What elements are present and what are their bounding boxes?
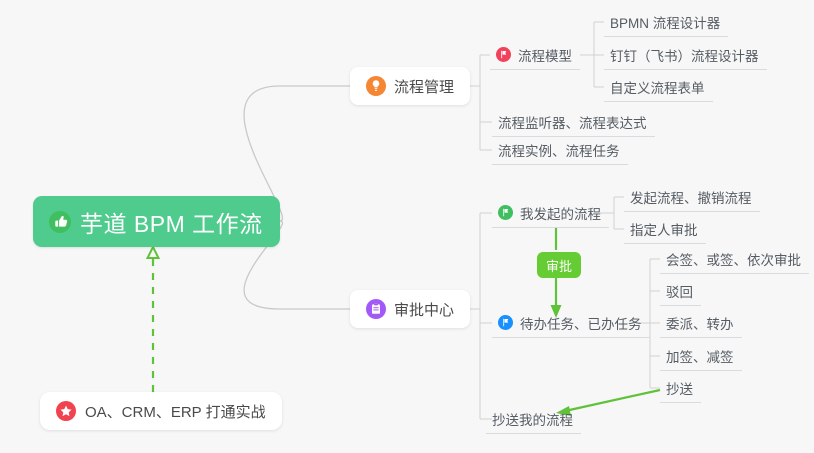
dashed-arrow-to-root [148, 247, 159, 392]
node-label: 钉钉（飞书）流程设计器 [610, 45, 759, 65]
node-cc-to-me[interactable]: 抄送我的流程 [486, 404, 581, 434]
node-label: 委派、转办 [666, 313, 734, 333]
node-delegate-transfer[interactable]: 委派、转办 [660, 308, 742, 338]
node-label: 会签、或签、依次审批 [666, 249, 801, 269]
approval-tag[interactable]: 审批 [537, 252, 581, 278]
lightbulb-icon [366, 76, 386, 96]
node-countersign[interactable]: 会签、或签、依次审批 [660, 244, 809, 274]
node-label: 流程实例、流程任务 [498, 140, 620, 160]
node-label: 抄送 [666, 378, 693, 398]
node-start-cancel-process[interactable]: 发起流程、撤销流程 [624, 182, 760, 212]
node-bpmn-designer[interactable]: BPMN 流程设计器 [604, 7, 728, 37]
clipboard-icon [366, 299, 386, 319]
root-node[interactable]: 芋道 BPM 工作流 [33, 196, 280, 247]
node-label: 指定人审批 [630, 219, 698, 239]
node-label: BPMN 流程设计器 [610, 12, 720, 32]
thumbs-up-icon [49, 211, 71, 233]
node-custom-process-form[interactable]: 自定义流程表单 [604, 72, 713, 102]
node-cc[interactable]: 抄送 [660, 373, 701, 403]
mindmap-canvas: 芋道 BPM 工作流 流程管理 流程模型 BPMN 流程设计器 钉钉（飞书）流程 [0, 0, 814, 453]
root-label: 芋道 BPM 工作流 [80, 205, 263, 239]
branch-label: 审批中心 [394, 299, 454, 320]
node-label: 抄送我的流程 [492, 409, 573, 429]
flag-icon-blue [498, 315, 513, 330]
node-label: 加签、减签 [666, 346, 734, 366]
node-add-remove-sign[interactable]: 加签、减签 [660, 341, 742, 371]
node-label: 我发起的流程 [520, 203, 601, 223]
node-assignee-approval[interactable]: 指定人审批 [624, 214, 706, 244]
flag-icon-green [498, 205, 513, 220]
node-label: 自定义流程表单 [610, 77, 705, 97]
node-listener-expression[interactable]: 流程监听器、流程表达式 [492, 107, 655, 137]
star-icon [56, 401, 76, 421]
node-dingtalk-feishu-designer[interactable]: 钉钉（飞书）流程设计器 [604, 40, 767, 70]
approval-tag-label: 审批 [546, 256, 572, 275]
branch-process-management[interactable]: 流程管理 [350, 67, 470, 105]
node-label: 流程监听器、流程表达式 [498, 112, 647, 132]
node-reject[interactable]: 驳回 [660, 276, 701, 306]
node-label: 发起流程、撤销流程 [630, 187, 752, 207]
node-label: 待办任务、已办任务 [520, 313, 642, 333]
node-my-initiated[interactable]: 我发起的流程 [492, 198, 609, 228]
branch-label: 流程管理 [394, 76, 454, 97]
node-label: 驳回 [666, 281, 693, 301]
node-instance-task[interactable]: 流程实例、流程任务 [492, 135, 628, 165]
flag-icon-red [496, 47, 511, 62]
bottom-card-label: OA、CRM、ERP 打通实战 [85, 401, 266, 422]
node-todo-done-task[interactable]: 待办任务、已办任务 [492, 308, 650, 338]
bottom-card-integration[interactable]: OA、CRM、ERP 打通实战 [40, 392, 282, 430]
node-process-model[interactable]: 流程模型 [490, 40, 580, 70]
node-label: 流程模型 [518, 45, 572, 65]
branch-approval-center[interactable]: 审批中心 [350, 290, 470, 328]
